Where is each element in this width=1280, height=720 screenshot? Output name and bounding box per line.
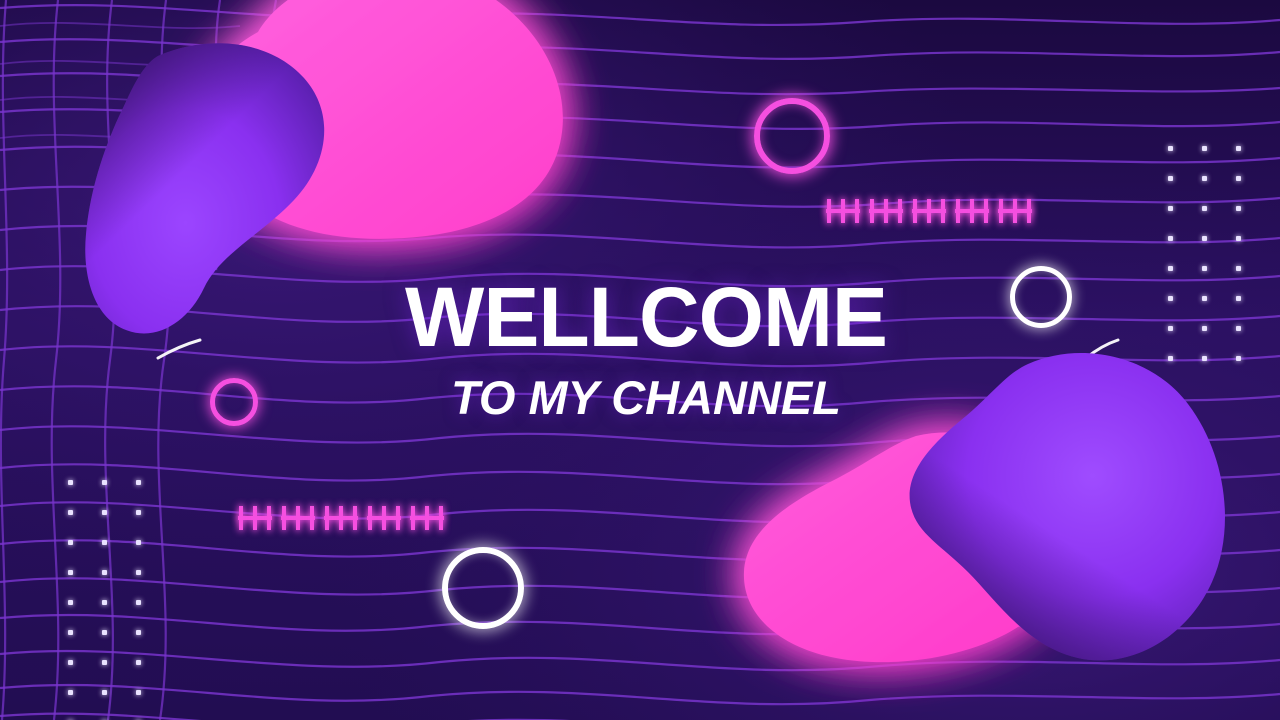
- tally-group: [955, 199, 989, 223]
- tally-group: [281, 506, 315, 530]
- tally-group: [826, 199, 860, 223]
- tally-group: [238, 506, 272, 530]
- page-subtitle: TO MY CHANNEL: [0, 370, 1280, 425]
- headline-block: WELLCOME TO MY CHANNEL: [0, 276, 1280, 425]
- ring-white-large-icon: [442, 547, 524, 629]
- ring-pink-large-icon: [754, 98, 830, 174]
- dot-grid-left: [68, 480, 141, 720]
- tally-group: [367, 506, 401, 530]
- tally-group: [998, 199, 1032, 223]
- tally-marks-bottom: [238, 506, 444, 530]
- banner-canvas: WELLCOME TO MY CHANNEL: [0, 0, 1280, 720]
- tally-group: [324, 506, 358, 530]
- page-title: WELLCOME: [0, 276, 1280, 358]
- tally-group: [912, 199, 946, 223]
- tally-group: [869, 199, 903, 223]
- tally-group: [410, 506, 444, 530]
- tally-marks-top: [826, 199, 1032, 223]
